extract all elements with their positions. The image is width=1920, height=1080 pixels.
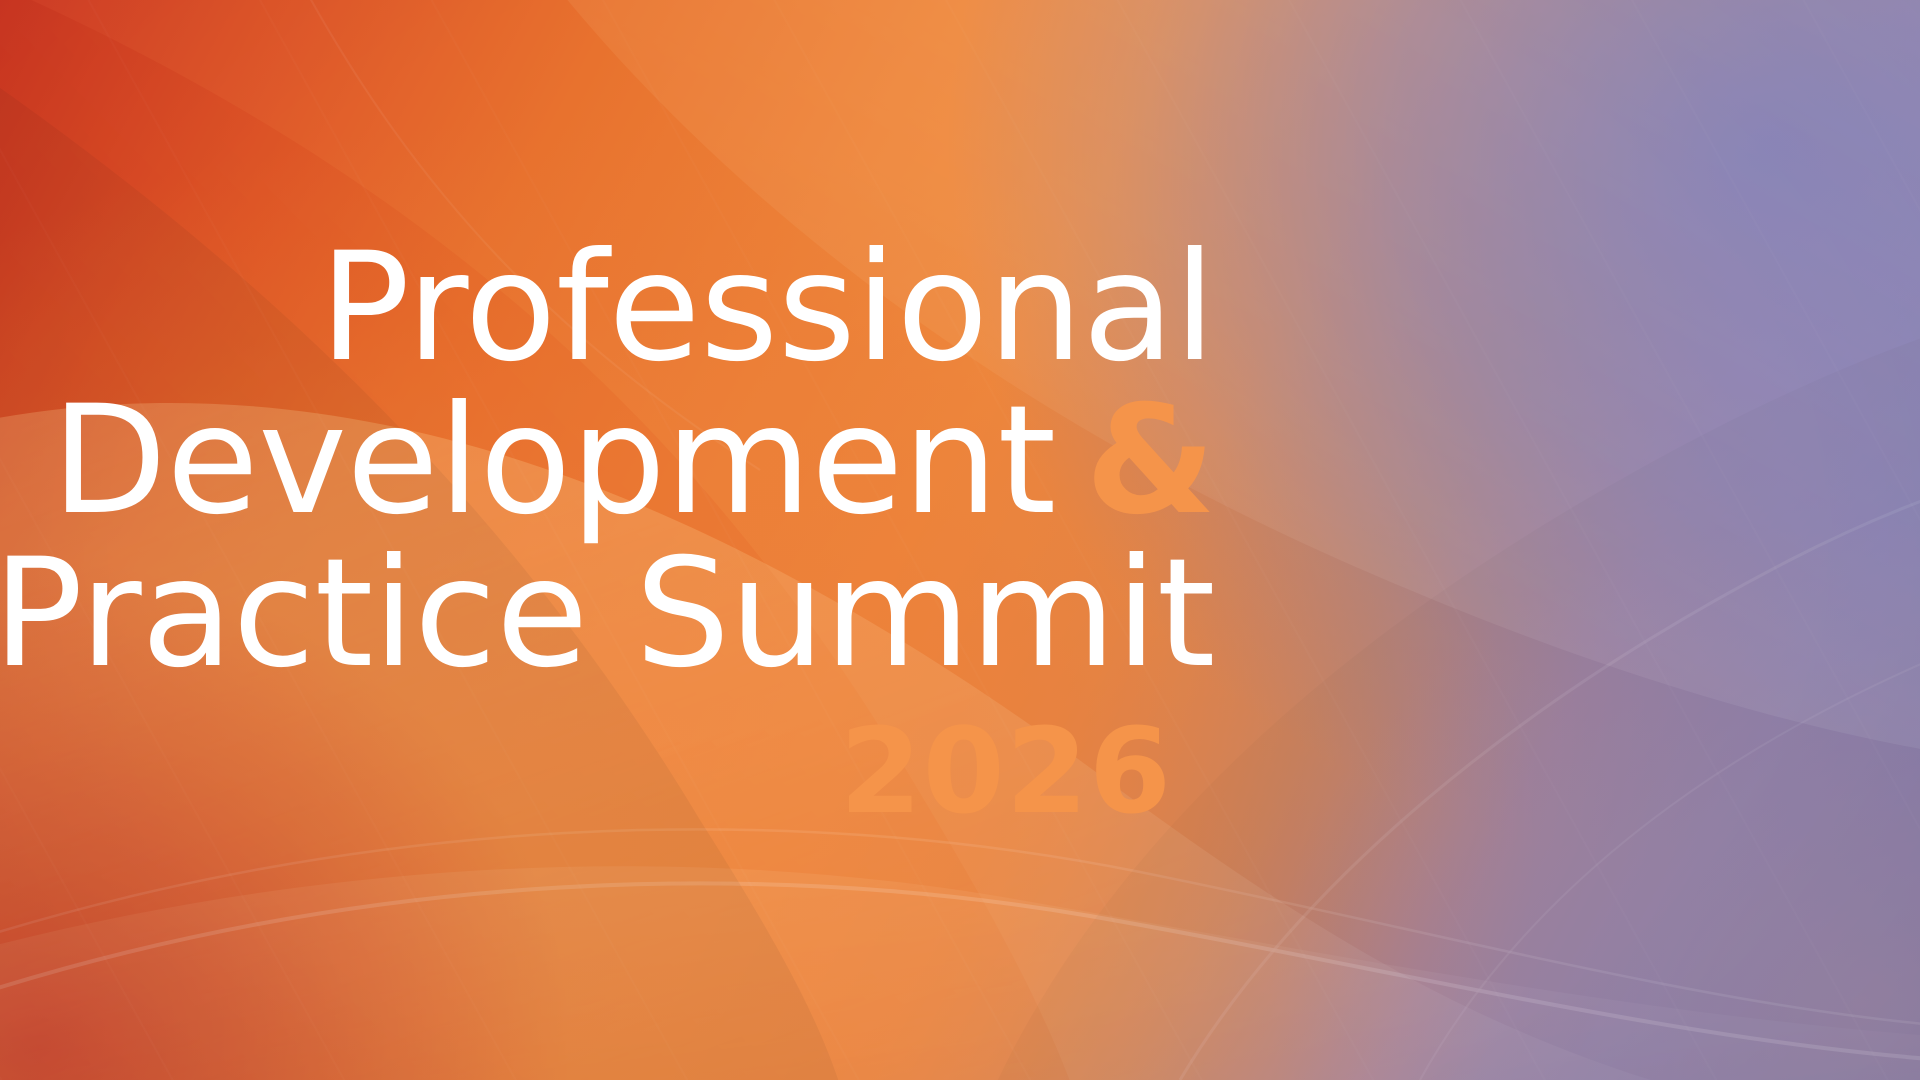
title-line-3: Practice Summit xyxy=(0,538,1215,691)
highlight-line-4 xyxy=(1420,660,1920,1080)
title-block: Professional Development & Practice Summ… xyxy=(0,232,1215,691)
title-line-2: Development & xyxy=(0,385,1215,538)
highlight-line-1 xyxy=(0,883,1920,1062)
highlight-line-2 xyxy=(0,829,1920,1028)
title-line-2-text: Development xyxy=(51,374,1085,548)
year-label: 2026 xyxy=(840,712,1172,830)
title-slide: Professional Development & Practice Summ… xyxy=(0,0,1920,1080)
wave-shape-ribbon-bottom xyxy=(0,866,1920,1080)
title-line-1: Professional xyxy=(0,232,1215,385)
ampersand-accent: & xyxy=(1085,374,1215,548)
highlight-line-3 xyxy=(1180,482,1920,1080)
